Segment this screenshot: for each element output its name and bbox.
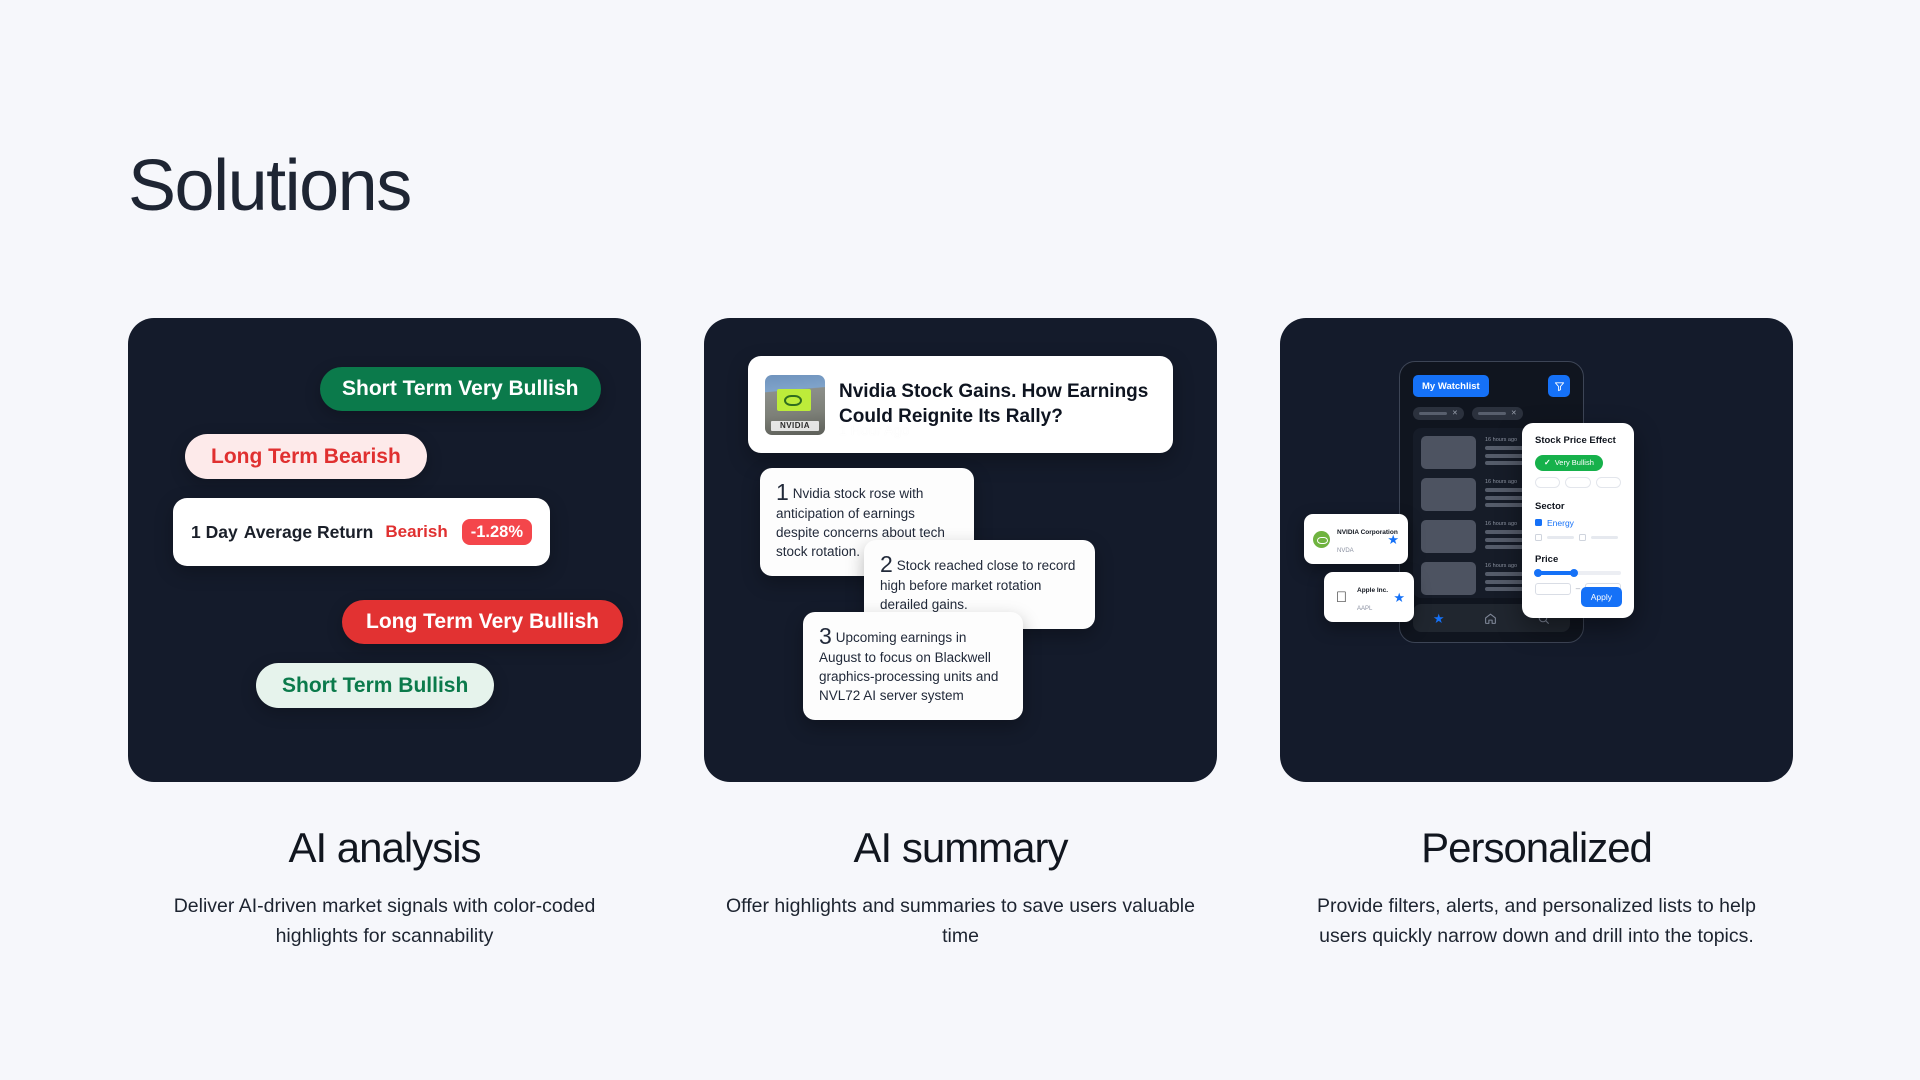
return-value-badge: -1.28%: [462, 519, 532, 546]
return-signal: Bearish: [385, 522, 447, 542]
stock-card-aapl[interactable]:  Apple Inc. AAPL ★: [1324, 572, 1414, 622]
option-placeholder[interactable]: [1565, 477, 1590, 488]
option-placeholder: [1591, 536, 1618, 539]
badge-short-term-very-bullish[interactable]: Short Term Very Bullish: [320, 367, 601, 411]
very-bullish-label: Very Bullish: [1555, 458, 1594, 467]
filter-chip[interactable]: ✕: [1472, 407, 1523, 420]
summary-point-3: 3Upcoming earnings in August to focus on…: [803, 612, 1023, 720]
ai-analysis-card: Short Term Very Bullish Long Term Bearis…: [128, 318, 641, 782]
very-bullish-chip[interactable]: ✓ Very Bullish: [1535, 455, 1603, 471]
option-placeholder[interactable]: [1535, 477, 1560, 488]
list-item-thumbnail: [1421, 436, 1476, 469]
solutions-card-grid: Short Term Very Bullish Long Term Bearis…: [128, 318, 1793, 951]
nvidia-wordmark: NVIDIA: [771, 421, 819, 431]
sector-option-label: Energy: [1547, 518, 1574, 528]
filter-panel: Stock Price Effect ✓ Very Bullish Sector…: [1522, 423, 1634, 618]
badge-label: Long Term Bearish: [211, 445, 401, 469]
badge-short-term-bullish[interactable]: Short Term Bullish: [256, 663, 494, 708]
personalized-card: My Watchlist ✕: [1280, 318, 1793, 782]
range-separator: –: [1576, 584, 1580, 593]
filter-chip[interactable]: ✕: [1413, 407, 1464, 420]
chip-placeholder-bar: [1419, 412, 1447, 415]
badge-label: Long Term Very Bullish: [366, 610, 599, 634]
column-title: AI analysis: [128, 826, 641, 870]
sector-option-placeholders: [1535, 534, 1621, 541]
return-metric: Average Return: [244, 522, 374, 542]
option-placeholder[interactable]: [1596, 477, 1621, 488]
star-icon[interactable]: ★: [1433, 612, 1445, 625]
chip-placeholder-bar: [1478, 412, 1506, 415]
list-item-thumbnail: [1421, 520, 1476, 553]
column-title: AI summary: [704, 826, 1217, 870]
column-description: Offer highlights and summaries to save u…: [704, 892, 1217, 951]
nvidia-eye-icon: [784, 395, 802, 406]
price-range-slider[interactable]: [1535, 571, 1621, 575]
my-watchlist-button[interactable]: My Watchlist: [1413, 375, 1489, 397]
solutions-page: Solutions Short Term Very Bullish Long T…: [0, 0, 1920, 1080]
list-item-thumbnail: [1421, 478, 1476, 511]
filter-button[interactable]: [1548, 375, 1570, 397]
sector-label: Sector: [1535, 501, 1621, 512]
column-ai-summary: NVIDIA Nvidia Stock Gains. How Earnings …: [704, 318, 1217, 951]
summary-number: 1: [776, 479, 789, 505]
summary-number: 2: [880, 551, 893, 577]
apply-label: Apply: [1591, 592, 1612, 602]
filter-icon: [1554, 381, 1565, 392]
summary-text: Upcoming earnings in August to focus on …: [819, 630, 998, 703]
stock-text-block: NVIDIA Corporation NVDA: [1337, 521, 1380, 557]
home-icon[interactable]: [1484, 612, 1497, 625]
average-return-row[interactable]: 1 DayAverage Return Bearish -1.28%: [173, 498, 550, 566]
my-watchlist-label: My Watchlist: [1422, 381, 1480, 392]
slider-knob-min[interactable]: [1534, 569, 1542, 577]
sector-option-energy[interactable]: Energy: [1535, 518, 1621, 528]
stock-name: Apple Inc.: [1357, 587, 1388, 594]
news-timestamp: 1 Hour Ago: [839, 422, 909, 440]
stock-card-nvda[interactable]: NVIDIA Corporation NVDA ★: [1304, 514, 1408, 564]
phone-header: My Watchlist: [1413, 375, 1570, 401]
checkbox-icon[interactable]: [1535, 534, 1542, 541]
stock-price-effect-label: Stock Price Effect: [1535, 435, 1621, 446]
stock-text-block: Apple Inc. AAPL: [1357, 579, 1386, 615]
close-icon[interactable]: ✕: [1452, 410, 1458, 417]
checkbox-checked-icon[interactable]: [1535, 519, 1542, 526]
column-personalized: My Watchlist ✕: [1280, 318, 1793, 951]
nvidia-logo-icon: [1313, 531, 1330, 548]
price-min-input[interactable]: [1535, 583, 1571, 595]
slider-knob-max[interactable]: [1570, 569, 1578, 577]
checkbox-icon[interactable]: [1579, 534, 1586, 541]
effect-option-placeholders: [1535, 477, 1621, 488]
star-icon[interactable]: ★: [1387, 533, 1399, 546]
list-item-thumbnail: [1421, 562, 1476, 595]
stock-symbol: NVDA: [1337, 548, 1354, 554]
stock-symbol: AAPL: [1357, 606, 1372, 612]
column-description: Provide filters, alerts, and personalize…: [1280, 892, 1793, 951]
news-title: Nvidia Stock Gains. How Earnings Could R…: [839, 381, 1148, 426]
badge-label: Short Term Very Bullish: [342, 377, 579, 401]
star-icon[interactable]: ★: [1393, 591, 1405, 604]
option-placeholder: [1547, 536, 1574, 539]
price-label: Price: [1535, 554, 1621, 565]
ai-summary-card: NVIDIA Nvidia Stock Gains. How Earnings …: [704, 318, 1217, 782]
return-label: 1 DayAverage Return: [191, 522, 373, 543]
nvidia-thumbnail-image: NVIDIA: [765, 375, 825, 435]
column-ai-analysis: Short Term Very Bullish Long Term Bearis…: [128, 318, 641, 951]
apple-logo-icon: : [1333, 589, 1350, 606]
active-filter-chips: ✕ ✕: [1413, 407, 1523, 420]
column-title: Personalized: [1280, 826, 1793, 870]
badge-long-term-bearish[interactable]: Long Term Bearish: [185, 434, 427, 479]
column-description: Deliver AI-driven market signals with co…: [128, 892, 641, 951]
summary-text: Stock reached close to record high befor…: [880, 558, 1075, 612]
return-period: 1 Day: [191, 522, 238, 542]
check-icon: ✓: [1544, 458, 1551, 467]
news-title-block: Nvidia Stock Gains. How Earnings Could R…: [839, 380, 1156, 428]
summary-number: 3: [819, 623, 832, 649]
close-icon[interactable]: ✕: [1511, 410, 1517, 417]
page-title: Solutions: [128, 150, 411, 222]
badge-long-term-very-bullish[interactable]: Long Term Very Bullish: [342, 600, 623, 644]
apply-button[interactable]: Apply: [1581, 587, 1622, 607]
news-headline-card[interactable]: NVIDIA Nvidia Stock Gains. How Earnings …: [748, 356, 1173, 453]
badge-label: Short Term Bullish: [282, 674, 468, 698]
